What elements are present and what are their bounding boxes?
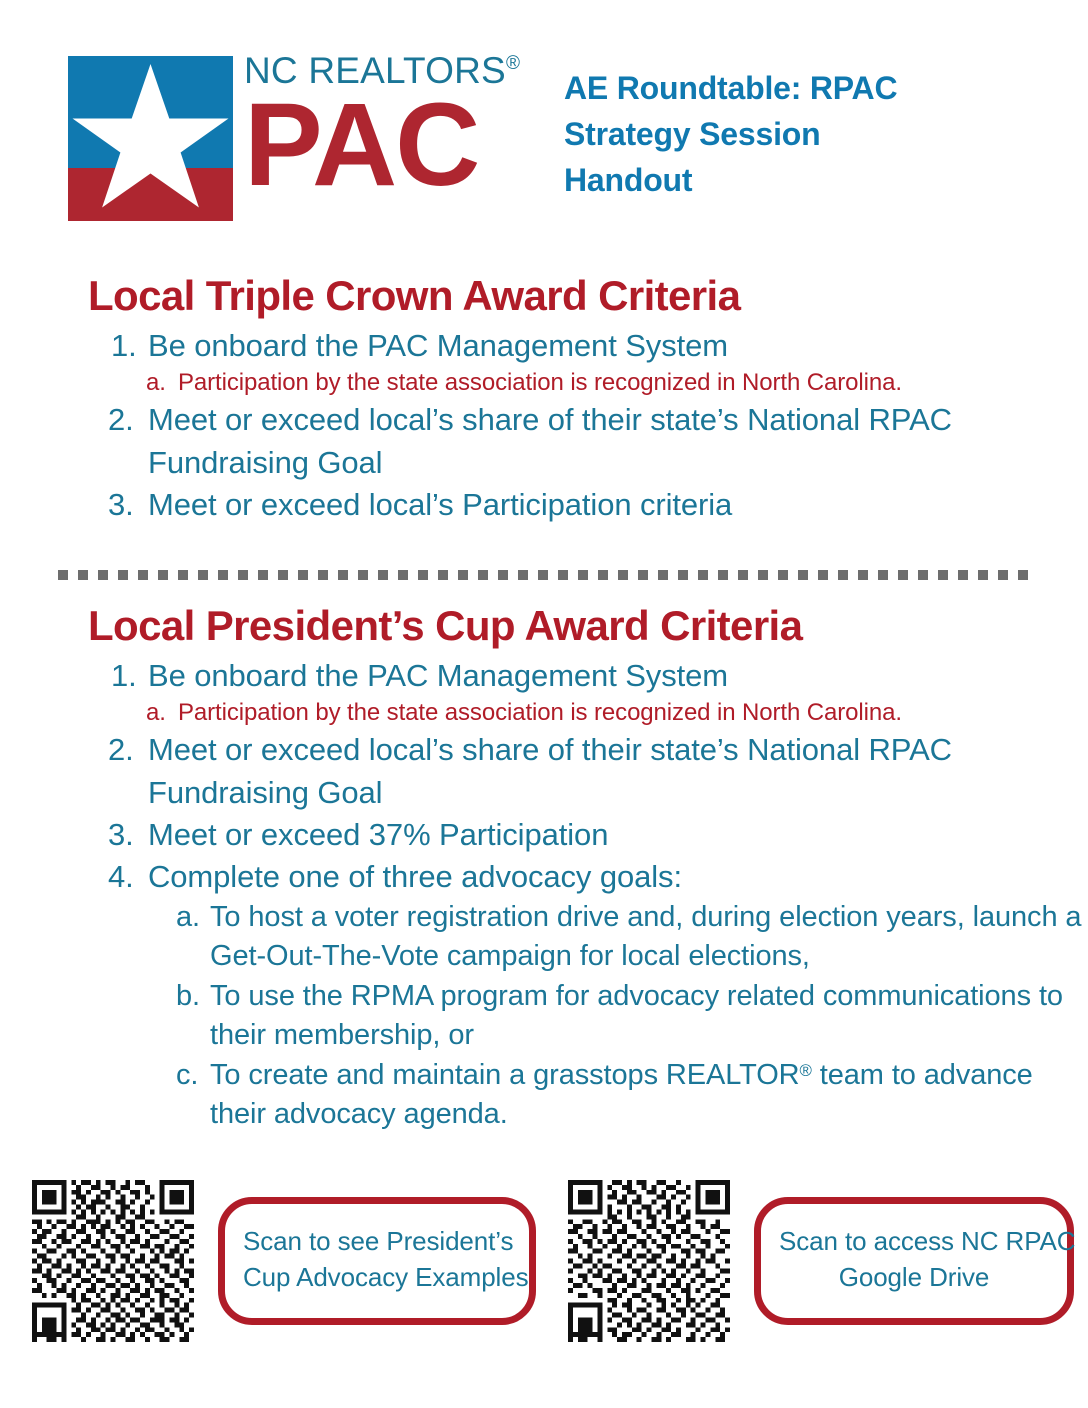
sub-list-marker: b. xyxy=(176,977,210,1016)
qr-block-google-drive: Scan to access NC RPAC Google Drive xyxy=(568,1180,1074,1342)
registered-mark-icon: ® xyxy=(506,53,520,74)
qr-caption-google-drive: Scan to access NC RPAC Google Drive xyxy=(754,1197,1074,1325)
list-item-text: Meet or exceed local’s Participation cri… xyxy=(148,487,732,522)
dotted-divider xyxy=(58,570,1030,580)
list-item: 3. Meet or exceed 37% Participation xyxy=(0,814,1088,856)
qr-caption-line-2: Cup Advocacy Examples xyxy=(243,1260,511,1296)
criteria-list-presidents-cup: 1. Be onboard the PAC Management System … xyxy=(0,655,1088,1135)
list-item-text: Meet or exceed local’s share of their st… xyxy=(148,732,952,809)
qr-caption-line-2: Google Drive xyxy=(779,1260,1049,1296)
sub-list-item: a. To host a voter registration drive an… xyxy=(0,898,1088,977)
page-title: AE Roundtable: RPAC Strategy Session Han… xyxy=(564,66,1034,203)
qr-code-nc-rpac-google-drive[interactable] xyxy=(568,1180,730,1342)
qr-code-row: Scan to see President’s Cup Advocacy Exa… xyxy=(0,1180,1088,1360)
sub-list: a. Participation by the state associatio… xyxy=(0,697,1088,729)
page-title-line-2: Strategy Session xyxy=(564,112,1034,158)
sub-list: a. Participation by the state associatio… xyxy=(0,367,1088,399)
list-marker: 2. xyxy=(108,399,148,441)
sub-list-marker: a. xyxy=(176,898,210,937)
list-marker: 3. xyxy=(108,484,148,526)
sub-list-item: a. Participation by the state associatio… xyxy=(0,367,1088,399)
handout-page: NC REALTORS® PAC AE Roundtable: RPAC Str… xyxy=(0,0,1088,1408)
list-item: 1. Be onboard the PAC Management System xyxy=(0,655,1088,697)
logo-wordmark-bottom: PAC xyxy=(244,91,544,200)
sub-list-marker: a. xyxy=(146,367,178,399)
criteria-list-triple-crown: 1. Be onboard the PAC Management System … xyxy=(0,325,1088,526)
section-heading-triple-crown: Local Triple Crown Award Criteria xyxy=(0,272,1088,319)
sub-list-item: c. To create and maintain a grasstops RE… xyxy=(0,1056,1088,1135)
sub-list-marker: c. xyxy=(176,1056,210,1095)
page-header: NC REALTORS® PAC AE Roundtable: RPAC Str… xyxy=(0,0,1088,250)
sub-list-marker: a. xyxy=(146,697,178,729)
qr-code-presidents-cup-advocacy-examples[interactable] xyxy=(32,1180,194,1342)
list-item: 3. Meet or exceed local’s Participation … xyxy=(0,484,1088,526)
nc-realtors-pac-logo: NC REALTORS® PAC xyxy=(68,52,538,224)
section-heading-presidents-cup: Local President’s Cup Award Criteria xyxy=(0,602,1088,649)
page-title-line-3: Handout xyxy=(564,158,1034,204)
sub-list: a. To host a voter registration drive an… xyxy=(0,898,1088,1135)
sub-list-item: a. Participation by the state associatio… xyxy=(0,697,1088,729)
sub-list-item-text: To use the RPMA program for advocacy rel… xyxy=(210,980,1063,1051)
sub-list-item-text: Participation by the state association i… xyxy=(178,369,902,396)
list-marker: 1. xyxy=(111,325,151,367)
qr-caption-line-1: Scan to see President’s xyxy=(243,1224,511,1260)
list-item: 2. Meet or exceed local’s share of their… xyxy=(0,399,1088,483)
section-presidents-cup: Local President’s Cup Award Criteria 1. … xyxy=(0,602,1088,1135)
list-marker: 4. xyxy=(108,856,148,898)
list-marker: 2. xyxy=(108,729,148,771)
list-item-text: Complete one of three advocacy goals: xyxy=(148,859,682,894)
section-triple-crown: Local Triple Crown Award Criteria 1. Be … xyxy=(0,272,1088,526)
qr-block-presidents-cup: Scan to see President’s Cup Advocacy Exa… xyxy=(32,1180,536,1342)
list-item: 2. Meet or exceed local’s share of their… xyxy=(0,729,1088,813)
qr-caption-presidents-cup: Scan to see President’s Cup Advocacy Exa… xyxy=(218,1197,536,1325)
list-marker: 1. xyxy=(111,655,151,697)
sub-list-item: b. To use the RPMA program for advocacy … xyxy=(0,977,1088,1056)
qr-caption-line-1: Scan to access NC RPAC xyxy=(779,1224,1049,1260)
page-title-line-1: AE Roundtable: RPAC xyxy=(564,66,1034,112)
logo-wordmark: NC REALTORS® PAC xyxy=(244,52,544,222)
list-item-text: Meet or exceed local’s share of their st… xyxy=(148,402,952,479)
list-item: 1. Be onboard the PAC Management System xyxy=(0,325,1088,367)
sub-list-item-text-before-mark: To create and maintain a grasstops REALT… xyxy=(210,1059,800,1091)
list-item-text: Be onboard the PAC Management System xyxy=(148,328,728,363)
sub-list-item-text: Participation by the state association i… xyxy=(178,699,902,726)
list-item: 4. Complete one of three advocacy goals: xyxy=(0,856,1088,898)
sub-list-item-text: To host a voter registration drive and, … xyxy=(210,901,1081,972)
sub-list-item-text: To create and maintain a grasstops REALT… xyxy=(210,1059,1033,1130)
registered-mark-icon: ® xyxy=(800,1061,812,1080)
star-flag-logo-icon xyxy=(68,56,233,221)
list-item-text: Be onboard the PAC Management System xyxy=(148,658,728,693)
list-item-text: Meet or exceed 37% Participation xyxy=(148,817,608,852)
list-marker: 3. xyxy=(108,814,148,856)
